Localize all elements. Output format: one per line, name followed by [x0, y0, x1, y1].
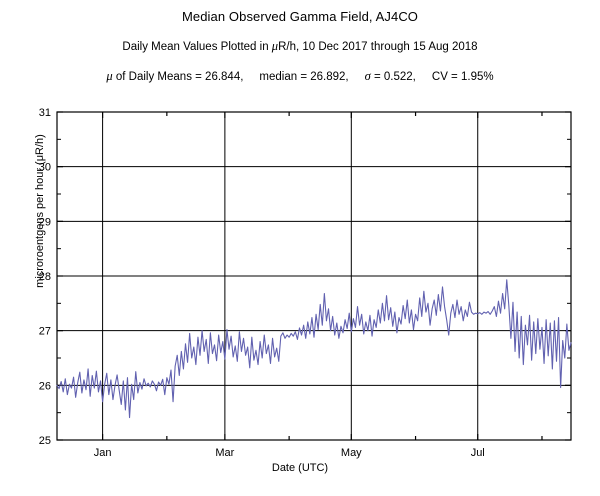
chart-stats-line: μ of Daily Means = 26.844,median = 26.89…: [0, 69, 600, 84]
y-tick-label: 27: [39, 326, 51, 338]
x-tick-label: Jan: [94, 447, 112, 459]
chart-subtitle: Daily Mean Values Plotted in μR/h, 10 De…: [0, 39, 600, 54]
data-series-line: [57, 280, 571, 418]
chart-title: Median Observed Gamma Field, AJ4CO: [0, 9, 600, 25]
mean-label: of Daily Means =: [113, 71, 205, 83]
chart-figure: Median Observed Gamma Field, AJ4CO Daily…: [0, 0, 600, 496]
subtitle-before-mu: Daily Mean Values Plotted in: [122, 41, 271, 53]
cv-label: CV =: [432, 71, 461, 83]
y-axis-label: microroentgens per hour (μR/h): [34, 111, 46, 311]
sigma-label: =: [371, 71, 384, 83]
x-tick-label: Jul: [471, 447, 485, 459]
sigma-value: 0.522,: [384, 71, 416, 83]
x-tick-label: May: [341, 447, 362, 459]
x-axis-label: Date (UTC): [0, 462, 600, 474]
y-axis-ticks: 25262728293031: [39, 107, 571, 447]
cv-value: 1.95%: [461, 71, 494, 83]
median-label: median =: [259, 71, 310, 83]
mean-value: 26.844,: [205, 71, 243, 83]
median-value: 26.892,: [310, 71, 348, 83]
y-tick-label: 25: [39, 435, 51, 447]
subtitle-after-mu: R/h, 10 Dec 2017 through 15 Aug 2018: [278, 41, 478, 53]
y-tick-label: 26: [39, 380, 51, 392]
x-axis-ticks: JanMarMayJul: [94, 112, 542, 459]
x-tick-label: Mar: [215, 447, 234, 459]
title-block: Median Observed Gamma Field, AJ4CO Daily…: [0, 0, 600, 84]
